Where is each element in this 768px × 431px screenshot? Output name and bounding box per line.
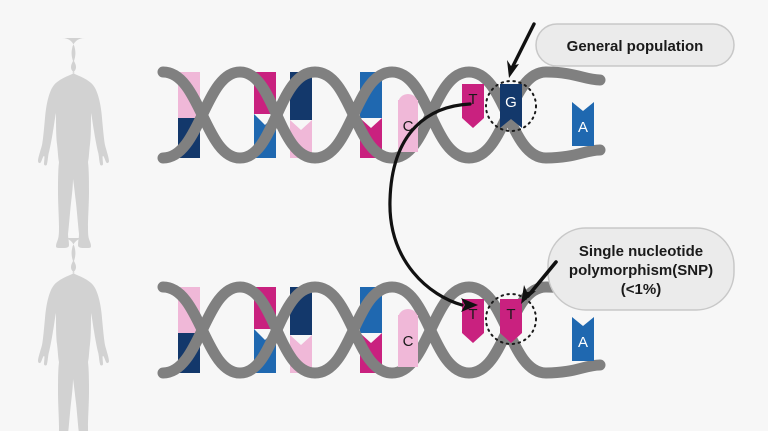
base-letter: A [578,334,588,351]
callout-label-line-1: Single nucleotide [579,243,703,260]
callout-label-line-3: (<1%) [621,281,661,298]
base-letter: T [506,306,515,323]
callout-label-line-2: polymorphism(SNP) [569,262,713,279]
base-letter: A [578,119,588,136]
top-strand-base-C: C [398,94,418,152]
base-letter: C [403,333,414,350]
base-letter: T [468,306,477,323]
bottom-strand-base-C: C [398,309,418,367]
diagram-canvas: C T G A [0,0,768,431]
base-letter: G [505,94,517,111]
callout-label: General population [567,38,704,55]
